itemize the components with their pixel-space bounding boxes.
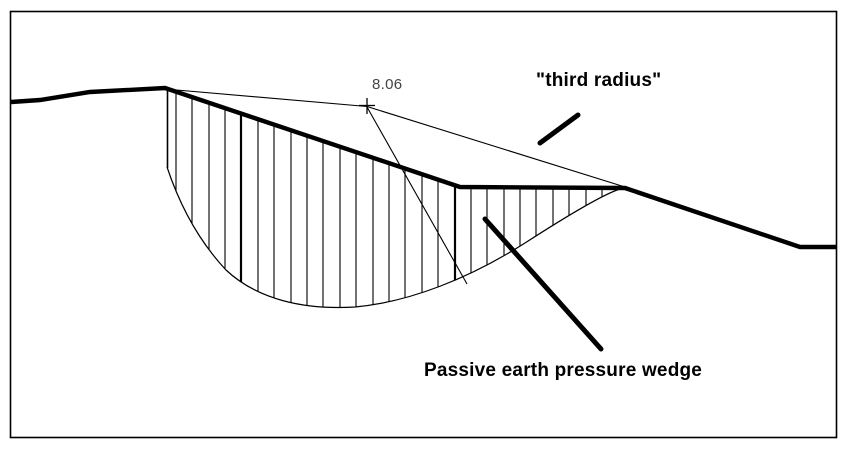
third-radius-label: "third radius" xyxy=(536,70,661,92)
dimension-value-label: 8.06 xyxy=(372,76,402,93)
passive-earth-pressure-wedge-label: Passive earth pressure wedge xyxy=(424,360,702,382)
diagram-canvas xyxy=(0,0,858,451)
figure-root: 8.06 "third radius" Passive earth pressu… xyxy=(0,0,858,451)
